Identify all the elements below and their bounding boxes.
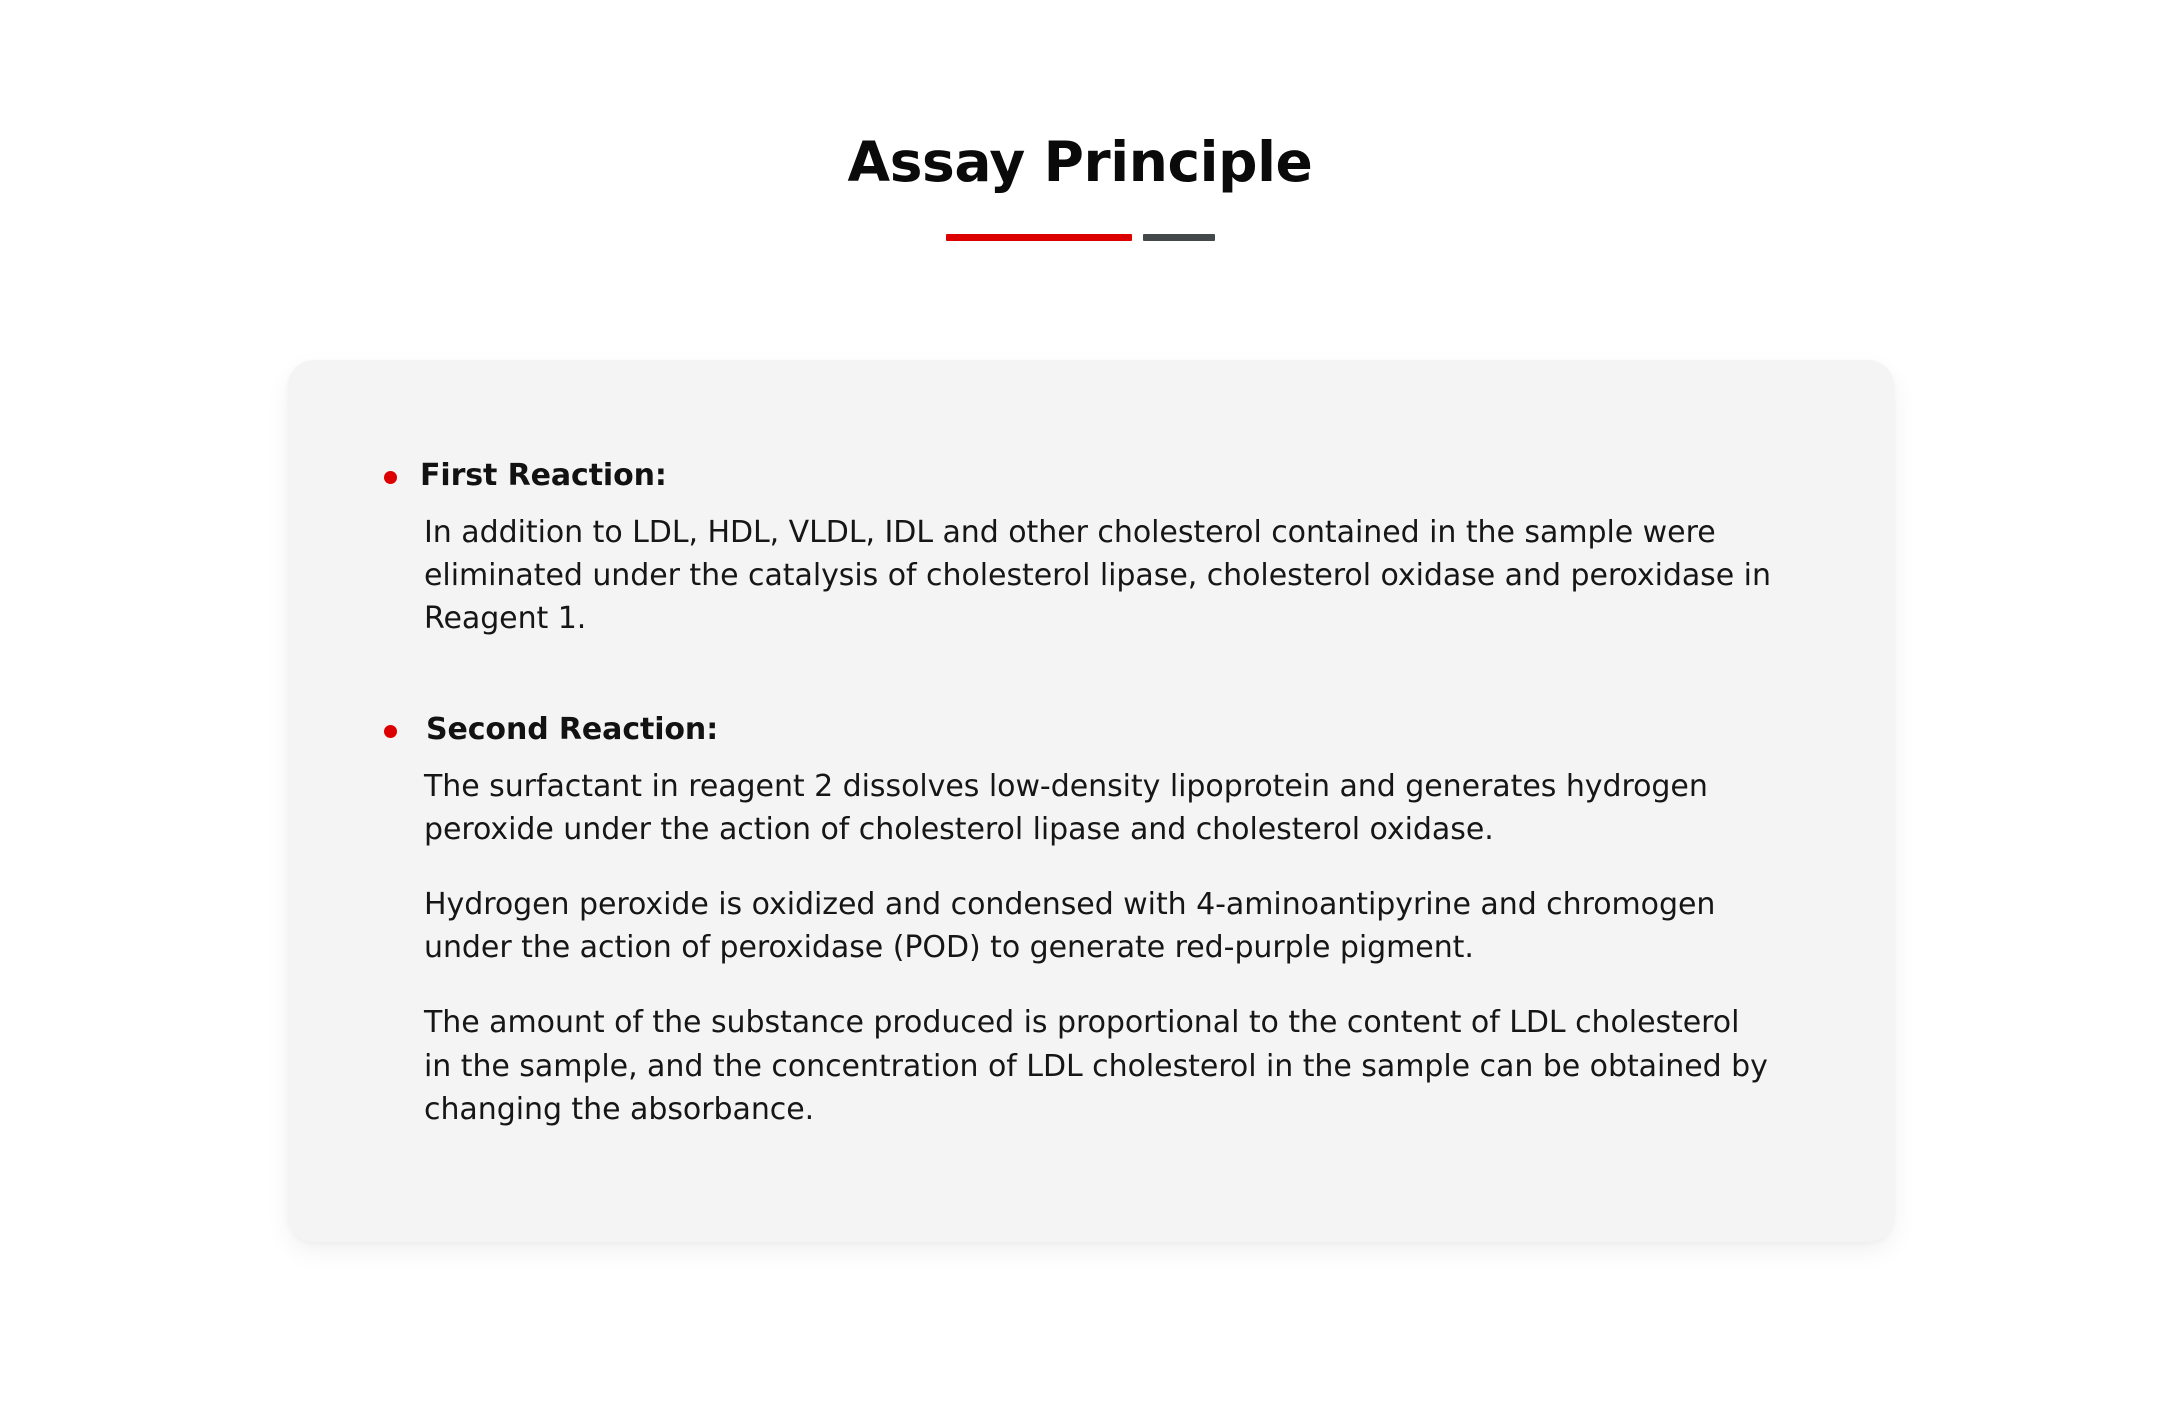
section-heading-label: Second Reaction:: [420, 712, 718, 747]
title-underline-gray-icon: [1143, 234, 1215, 241]
assay-principle-card: First Reaction: In addition to LDL, HDL,…: [288, 360, 1894, 1242]
section-heading-row: Second Reaction:: [384, 710, 1774, 751]
section-heading-row: First Reaction:: [384, 456, 1774, 497]
title-underline-red-icon: [946, 234, 1132, 241]
page-header: Assay Principle: [0, 132, 2160, 241]
section-paragraph: The surfactant in reagent 2 dissolves lo…: [384, 765, 1774, 851]
section-paragraph: Hydrogen peroxide is oxidized and conden…: [384, 883, 1774, 969]
section-heading-label: First Reaction:: [420, 458, 667, 493]
page-title: Assay Principle: [0, 132, 2160, 194]
bullet-dot-icon: [384, 725, 397, 738]
section-paragraph: The amount of the substance produced is …: [384, 1001, 1774, 1131]
bullet-dot-icon: [384, 471, 397, 484]
card-content: First Reaction: In addition to LDL, HDL,…: [384, 456, 1774, 1131]
title-underline-group: [0, 234, 2160, 241]
section-paragraph: In addition to LDL, HDL, VLDL, IDL and o…: [384, 511, 1774, 641]
page-root: Assay Principle First Reaction: In addit…: [0, 0, 2160, 1409]
section-second-reaction: Second Reaction: The surfactant in reage…: [384, 710, 1774, 1131]
section-first-reaction: First Reaction: In addition to LDL, HDL,…: [384, 456, 1774, 640]
